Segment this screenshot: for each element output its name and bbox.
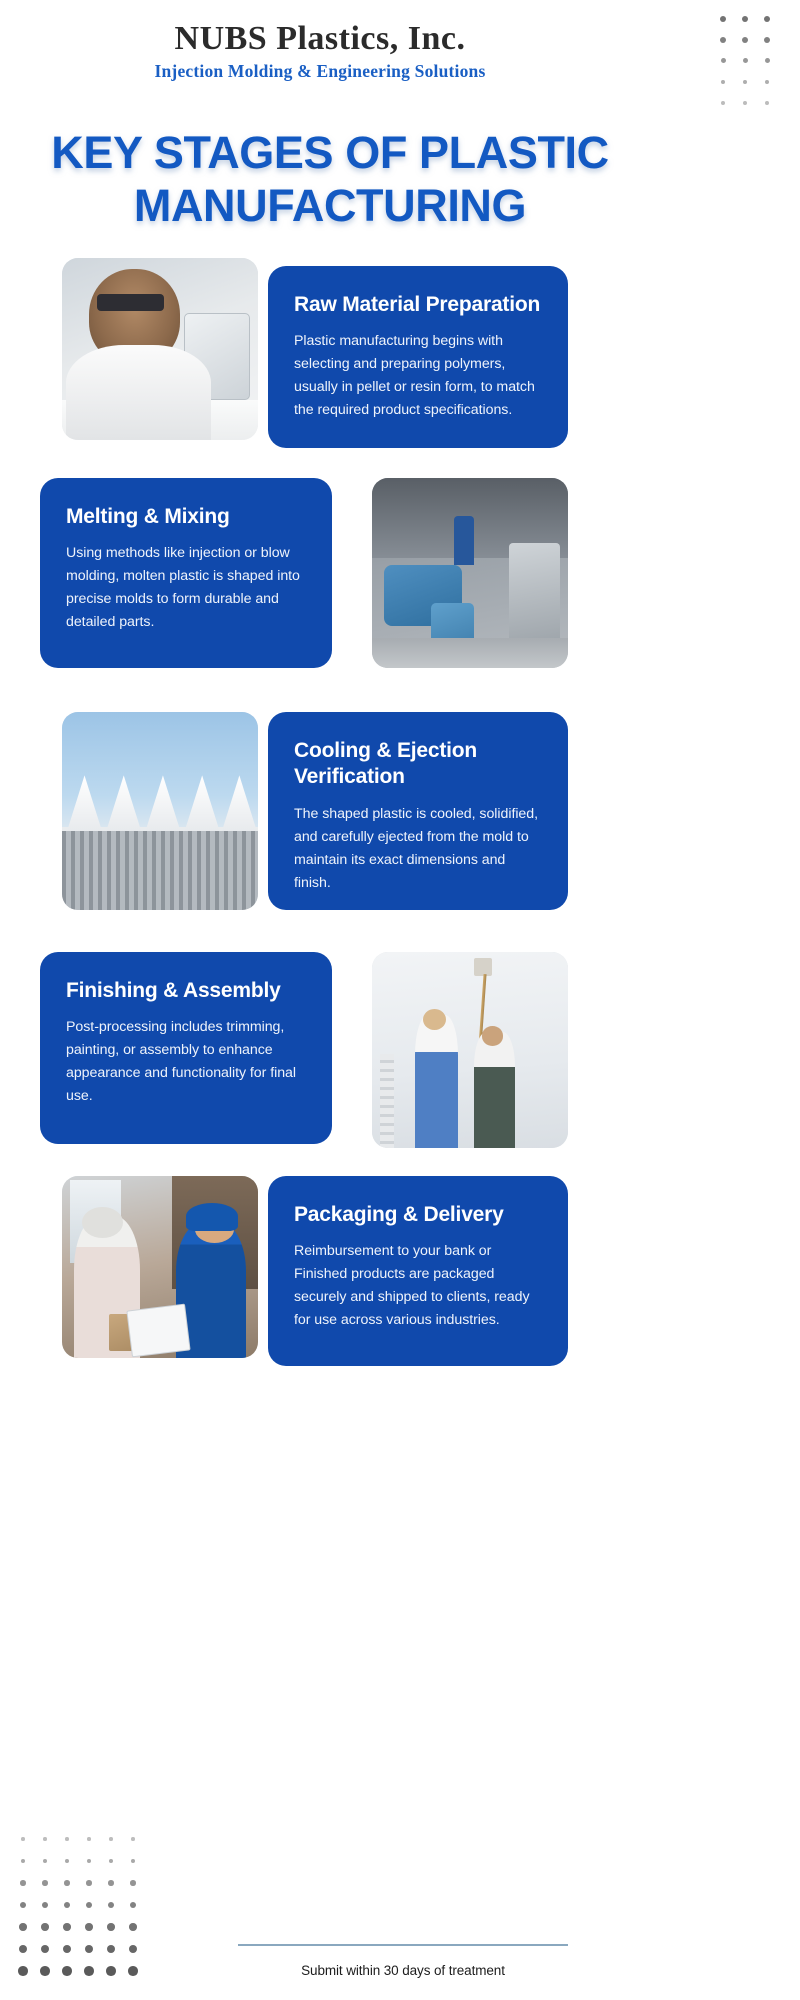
stage-1-image — [62, 258, 258, 440]
stage-3-card[interactable]: Cooling & Ejection Verification The shap… — [268, 712, 568, 910]
footer-divider — [238, 1944, 568, 1946]
stage-2-card[interactable]: Melting & Mixing Using methods like inje… — [40, 478, 332, 668]
stage-3-title: Cooling & Ejection Verification — [294, 738, 542, 791]
stage-1-body: Plastic manufacturing begins with select… — [294, 330, 542, 422]
stage-row-4: Finishing & Assembly Post-processing inc… — [0, 952, 800, 1152]
stage-4-body: Post-processing includes trimming, paint… — [66, 1016, 306, 1108]
stage-5-card[interactable]: Packaging & Delivery Reimbursement to yo… — [268, 1176, 568, 1366]
stage-2-title: Melting & Mixing — [66, 504, 306, 530]
brand-name: NUBS Plastics, Inc. — [0, 20, 640, 57]
stage-2-body: Using methods like injection or blow mol… — [66, 542, 306, 634]
stage-5-body: Reimbursement to your bank or Finished p… — [294, 1240, 542, 1332]
page-title: KEY STAGES OF PLASTIC MANUFACTURING — [30, 126, 630, 232]
brand-tagline: Injection Molding & Engineering Solution… — [0, 62, 640, 81]
stage-5-title: Packaging & Delivery — [294, 1202, 542, 1228]
infographic-page: NUBS Plastics, Inc. Injection Molding & … — [0, 0, 800, 2000]
footer-note: Submit within 30 days of treatment — [238, 1963, 568, 1978]
decorative-dot-grid-bottom-left — [12, 1828, 144, 1982]
stage-4-card[interactable]: Finishing & Assembly Post-processing inc… — [40, 952, 332, 1144]
stage-row-5: Packaging & Delivery Reimbursement to yo… — [0, 1176, 800, 1368]
stage-3-body: The shaped plastic is cooled, solidified… — [294, 803, 542, 895]
stage-row-1: Raw Material Preparation Plastic manufac… — [0, 258, 800, 448]
brand-logo: NUBS Plastics, Inc. Injection Molding & … — [0, 20, 640, 82]
stage-3-image — [62, 712, 258, 910]
stage-4-title: Finishing & Assembly — [66, 978, 306, 1004]
stage-2-image — [372, 478, 568, 668]
stage-1-card[interactable]: Raw Material Preparation Plastic manufac… — [268, 266, 568, 448]
stage-row-3: Cooling & Ejection Verification The shap… — [0, 712, 800, 912]
stage-row-2: Melting & Mixing Using methods like inje… — [0, 478, 800, 670]
stage-1-title: Raw Material Preparation — [294, 292, 542, 318]
decorative-dot-grid-top-right — [712, 8, 778, 113]
stage-4-image — [372, 952, 568, 1148]
stage-5-image — [62, 1176, 258, 1358]
